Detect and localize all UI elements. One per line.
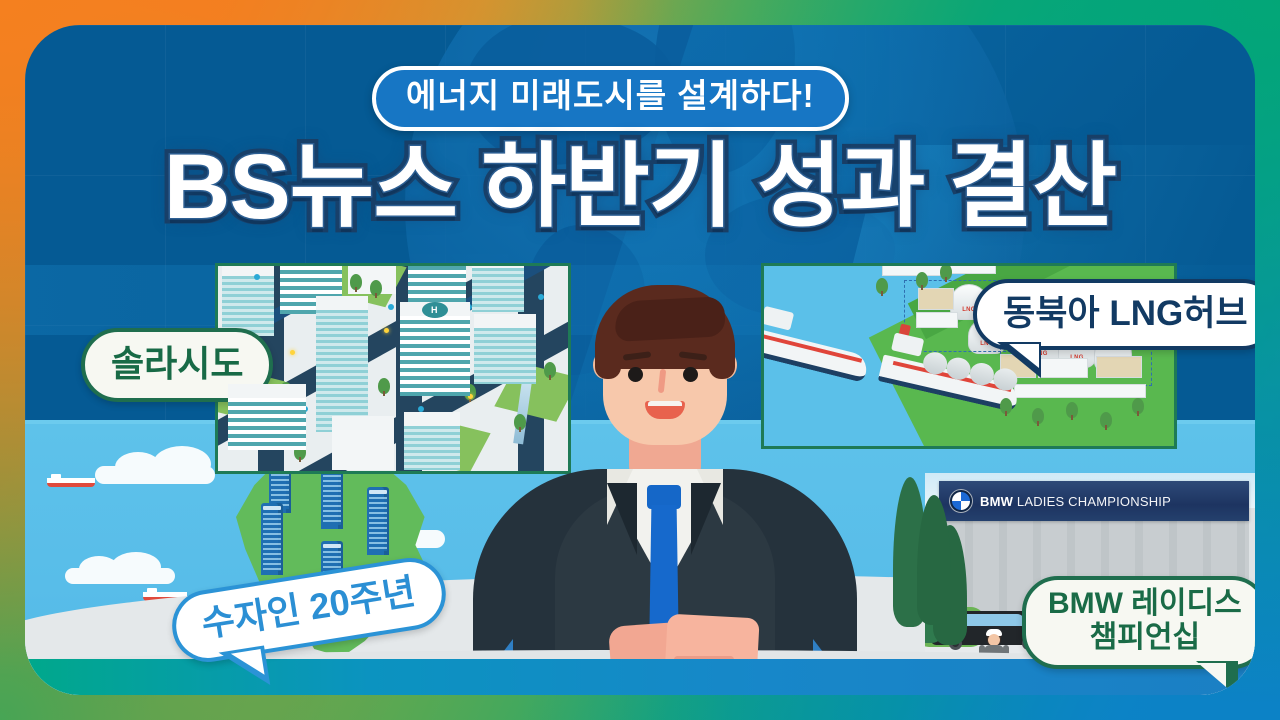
apartment-tower	[367, 487, 389, 555]
callout-bmw-ladies-line2: 챔피언십	[1048, 621, 1242, 655]
callout-lng-hub[interactable]: 동북아 LNG허브	[973, 279, 1255, 350]
bubble-tail-inner	[1198, 663, 1226, 687]
helipad-icon: H	[431, 306, 439, 314]
callout-bmw-ladies[interactable]: BMW 레이디스 챔피언십	[1022, 576, 1255, 669]
canvas: H	[25, 25, 1255, 695]
cloud	[95, 466, 215, 484]
subtitle-pill: 에너지 미래도시를 설계하다!	[372, 66, 849, 131]
bmw-banner: BMW LADIES CHAMPIONSHIP	[939, 481, 1249, 521]
apartment-tower	[261, 503, 283, 575]
cloud	[65, 568, 175, 584]
bmw-banner-text: BMW LADIES CHAMPIONSHIP	[980, 494, 1171, 509]
bmw-roundel-icon	[949, 489, 973, 513]
bubble-tail-inner	[231, 649, 265, 679]
callout-solasido-label: 솔라시도	[111, 343, 243, 384]
eye	[683, 367, 698, 382]
bmw-brand-text: BMW	[980, 494, 1013, 509]
eye	[628, 367, 643, 382]
page-title: BS뉴스 하반기 성과 결산	[25, 141, 1255, 233]
bmw-event-text: LADIES CHAMPIONSHIP	[1017, 494, 1171, 509]
thumbnail-stage: H	[0, 0, 1280, 720]
bubble-tail-inner	[1009, 344, 1039, 368]
callout-lng-hub-label: 동북아 LNG허브	[1003, 294, 1248, 333]
callout-bmw-ladies-line1: BMW 레이디스	[1048, 587, 1242, 621]
ship-icon	[47, 478, 95, 487]
